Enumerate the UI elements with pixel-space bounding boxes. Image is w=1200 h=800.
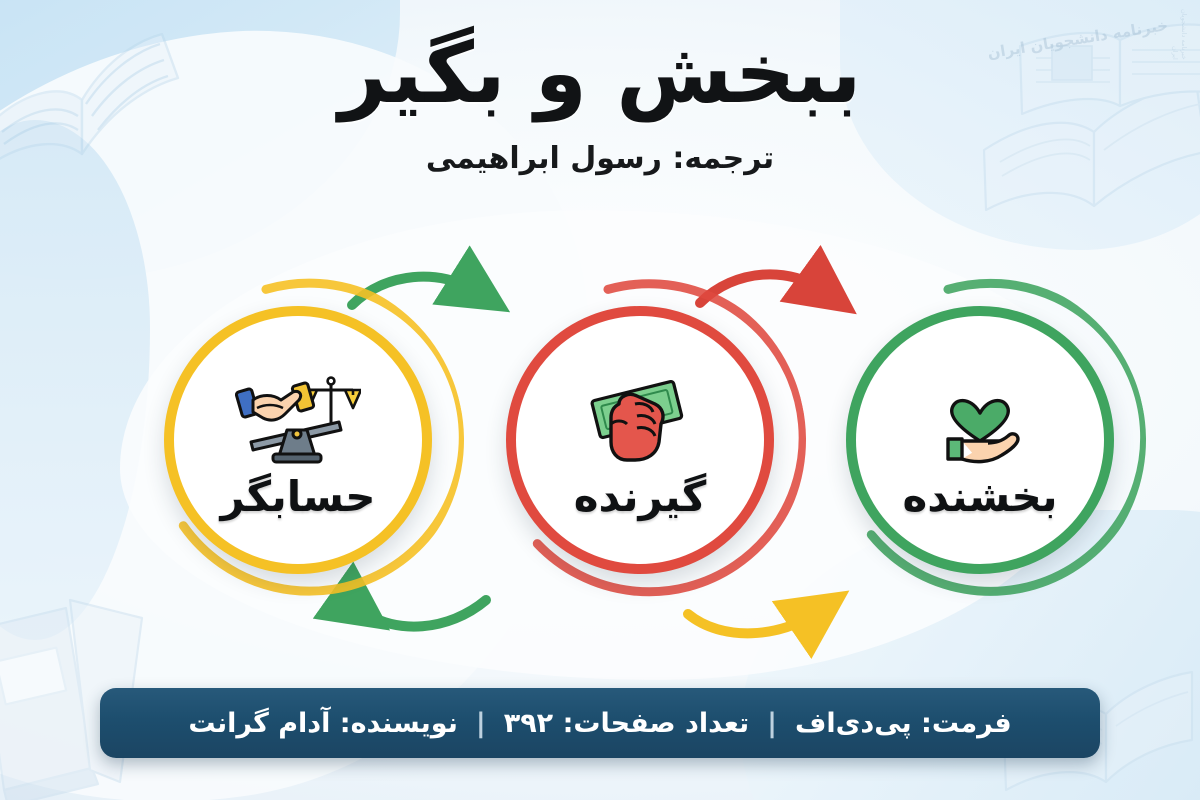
- concept-row: بخشنده: [0, 272, 1200, 622]
- matcher-label: حسابگر: [220, 476, 375, 518]
- info-bar: فرمت: پی‌دی‌اف | تعداد صفحات: ۳۹۲ | نویس…: [100, 688, 1100, 758]
- taker-label: گیرنده: [574, 476, 707, 518]
- concept-node-taker[interactable]: گیرنده: [480, 280, 800, 600]
- fist-holding-money-icon: [585, 366, 695, 470]
- matcher-disc: حسابگر: [176, 318, 420, 562]
- separator-1: |: [476, 708, 486, 739]
- giver-disc: بخشنده: [858, 318, 1102, 562]
- author-label: نویسنده: آدام گرانت: [188, 708, 457, 739]
- page-subtitle: ترجمه: رسول ابراهیمی: [0, 141, 1200, 176]
- info-bar-content: فرمت: پی‌دی‌اف | تعداد صفحات: ۳۹۲ | نویس…: [188, 708, 1011, 739]
- poster-canvas: خبرنامه دانشجویان ایران خبرنامه دانشجویا…: [0, 0, 1200, 800]
- concept-node-matcher[interactable]: حسابگر: [138, 280, 458, 600]
- page-title: ببخش و بگیر: [0, 28, 1200, 119]
- heart-in-hand-icon: [928, 366, 1032, 470]
- giver-label: بخشنده: [903, 476, 1058, 518]
- pages-label: تعداد صفحات: ۳۹۲: [504, 708, 749, 739]
- header: ببخش و بگیر ترجمه: رسول ابراهیمی: [0, 28, 1200, 176]
- separator-2: |: [767, 708, 777, 739]
- taker-disc: گیرنده: [518, 318, 762, 562]
- concept-node-giver[interactable]: بخشنده: [820, 280, 1140, 600]
- format-label: فرمت: پی‌دی‌اف: [795, 708, 1012, 739]
- handshake-scales-icon: [235, 366, 361, 470]
